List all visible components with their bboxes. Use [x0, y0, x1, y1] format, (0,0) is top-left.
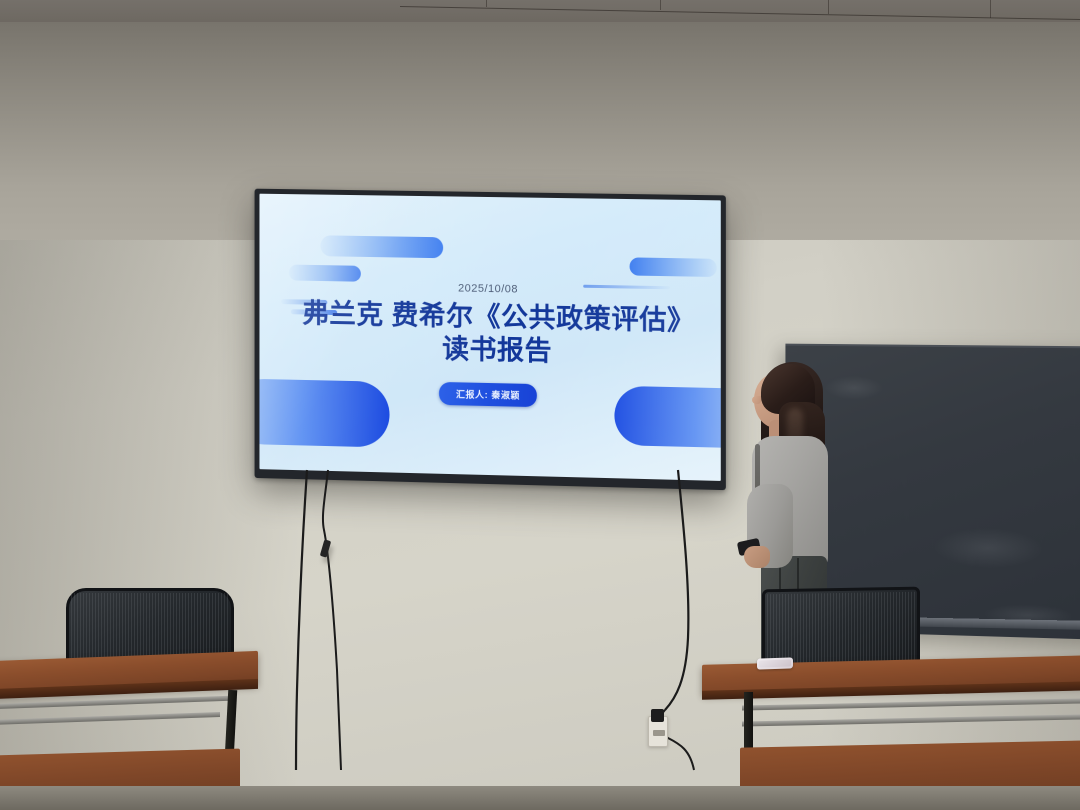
- ceiling-tile-seam: [660, 0, 661, 10]
- ceiling-tile-seam: [486, 0, 487, 7]
- tv-screen: 2025/10/08 弗兰克 费希尔《公共政策评估》读书报告 汇报人: 秦淑颖: [259, 194, 720, 481]
- phone-on-desk[interactable]: [757, 657, 793, 669]
- slide-decoration-top-right-bar: [630, 257, 717, 277]
- slide-decoration-top-left-bar-large: [320, 235, 443, 258]
- nose: [752, 396, 761, 404]
- cable-right-strand: [665, 470, 688, 710]
- slide-decoration-bottom-left-bar: [259, 378, 389, 447]
- power-plug[interactable]: [651, 709, 664, 722]
- television[interactable]: 2025/10/08 弗兰克 费希尔《公共政策评估》读书报告 汇报人: 秦淑颖: [255, 189, 726, 491]
- hand: [744, 546, 770, 568]
- presenter-badge: 汇报人: 秦淑颖: [439, 382, 537, 407]
- slide-title: 弗兰克 费希尔《公共政策评估》读书报告: [293, 297, 705, 372]
- ceiling-tile-seam: [828, 0, 829, 14]
- classroom-scene: 2025/10/08 弗兰克 费希尔《公共政策评估》读书报告 汇报人: 秦淑颖: [0, 0, 1080, 810]
- ceiling-tile-seam: [990, 0, 991, 18]
- cable-left-strand-2: [323, 470, 341, 770]
- chair-mesh: [767, 592, 915, 665]
- cable-left-strand: [296, 470, 307, 770]
- slide-decoration-bottom-right-bar: [614, 386, 720, 449]
- floor: [0, 786, 1080, 810]
- slide-date: 2025/10/08: [259, 279, 720, 299]
